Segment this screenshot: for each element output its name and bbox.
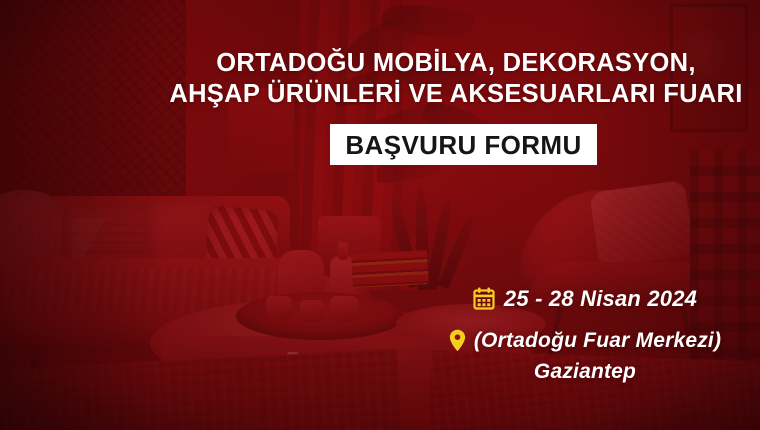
event-banner: ORTADOĞU MOBİLYA, DEKORASYON, AHŞAP ÜRÜN… [0,0,760,430]
map-pin-icon [449,329,466,352]
banner-content: ORTADOĞU MOBİLYA, DEKORASYON, AHŞAP ÜRÜN… [0,0,760,430]
event-date-row: 25 - 28 Nisan 2024 [420,284,750,313]
application-form-badge: BAŞVURU FORMU [330,124,597,165]
event-title: ORTADOĞU MOBİLYA, DEKORASYON, AHŞAP ÜRÜN… [160,48,752,110]
event-details: 25 - 28 Nisan 2024 (Ortadoğu Fuar Merkez… [420,284,750,386]
event-date-text: 25 - 28 Nisan 2024 [504,284,697,313]
event-title-line-1: ORTADOĞU MOBİLYA, DEKORASYON, [160,48,752,79]
calendar-icon [473,287,495,310]
application-form-badge-label: BAŞVURU FORMU [345,132,581,158]
event-title-line-2: AHŞAP ÜRÜNLERİ VE AKSESUARLARI FUARI [160,79,752,110]
event-city-text: Gaziantep [420,357,750,386]
event-venue-line: (Ortadoğu Fuar Merkezi) [449,326,721,355]
event-location-row: (Ortadoğu Fuar Merkezi) Gaziantep [420,326,750,386]
event-venue-text: (Ortadoğu Fuar Merkezi) [474,326,721,355]
